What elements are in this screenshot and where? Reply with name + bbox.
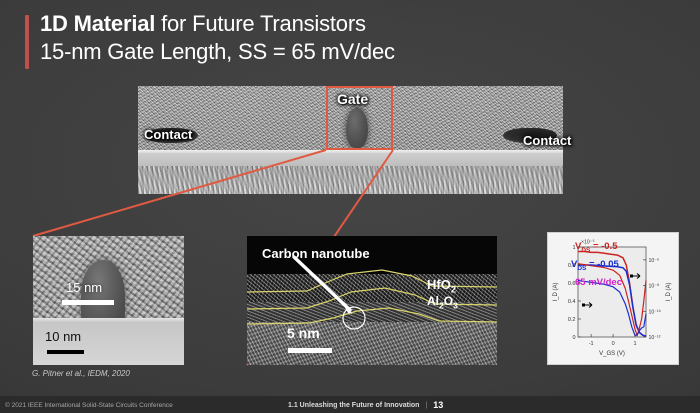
svg-text:-1: -1 [589, 341, 594, 347]
chart-annotation-vds-high: VDS = -0.5 [575, 241, 618, 254]
label-scale-15nm: 15 nm [66, 280, 102, 295]
footer-session-info: 1.1 Unleashing the Future of Innovation … [288, 400, 443, 410]
label-al2o3-sub2: 3 [453, 300, 458, 310]
label-scale-10nm: 10 nm [45, 329, 81, 344]
scale-bar-5nm [288, 348, 332, 353]
svg-text:0: 0 [612, 341, 615, 347]
scale-bar-10nm [47, 350, 84, 354]
footer-page-number: 13 [433, 400, 443, 410]
svg-text:10⁻⁸: 10⁻⁸ [649, 284, 660, 290]
svg-text:10⁻⁶: 10⁻⁶ [649, 258, 660, 264]
svg-text:0.4: 0.4 [568, 299, 576, 305]
svg-text:1: 1 [634, 341, 637, 347]
title-line-1: 1D Material for Future Transistors [40, 10, 660, 38]
svg-text:I_D (A): I_D (A) [666, 282, 672, 301]
gate-callout-box [326, 86, 393, 150]
ann0-sub: DS [581, 247, 590, 254]
ann1-b: = -0.05 [586, 259, 618, 270]
footer-separator: | [425, 402, 427, 409]
ann1-sub: DS [577, 265, 586, 272]
chart-annotation-vds-low: VDS = -0.05 [571, 259, 619, 272]
page-title: 1D Material for Future Transistors 15-nm… [40, 10, 660, 65]
label-hfo2-main: HfO [427, 277, 451, 292]
label-al2o3: Al2O3 [427, 294, 458, 310]
title-line-2: 15-nm Gate Length, SS = 65 mV/dec [40, 38, 660, 66]
title-accent-bar [25, 15, 29, 69]
svg-text:0: 0 [572, 335, 575, 341]
svg-text:10⁻¹⁰: 10⁻¹⁰ [649, 309, 661, 315]
title-emphasis: 1D Material [40, 11, 155, 36]
label-scale-5nm: 5 nm [287, 325, 320, 341]
footer-session-title: 1.1 Unleashing the Future of Innovation [288, 402, 419, 409]
label-al2o3-al: Al [427, 294, 439, 308]
label-carbon-nanotube: Carbon nanotube [262, 246, 370, 261]
svg-text:0.2: 0.2 [568, 317, 576, 323]
svg-text:V_GS (V): V_GS (V) [599, 351, 625, 357]
label-contact-left: Contact [144, 127, 192, 142]
label-contact-right: Contact [523, 133, 571, 148]
tem-mid-layer [138, 153, 563, 166]
slide-root: 1D Material for Future Transistors 15-nm… [0, 0, 700, 413]
scale-bar-15nm [62, 300, 114, 305]
tem-substrate-layer [138, 166, 563, 194]
svg-text:10⁻¹²: 10⁻¹² [649, 335, 661, 341]
chart-annotation-subthreshold-swing: 65 mV/dec [575, 277, 622, 288]
label-hfo2: HfO2 [427, 277, 456, 295]
title-rest: for Future Transistors [155, 11, 366, 36]
ann0-b: = -0.5 [590, 241, 617, 252]
svg-text:I_D (A): I_D (A) [553, 282, 559, 301]
citation-text: G. Pitner et al., IEDM, 2020 [32, 369, 130, 378]
label-al2o3-o: O [444, 294, 453, 308]
footer-copyright: © 2021 IEEE International Solid-State Ci… [5, 402, 173, 409]
